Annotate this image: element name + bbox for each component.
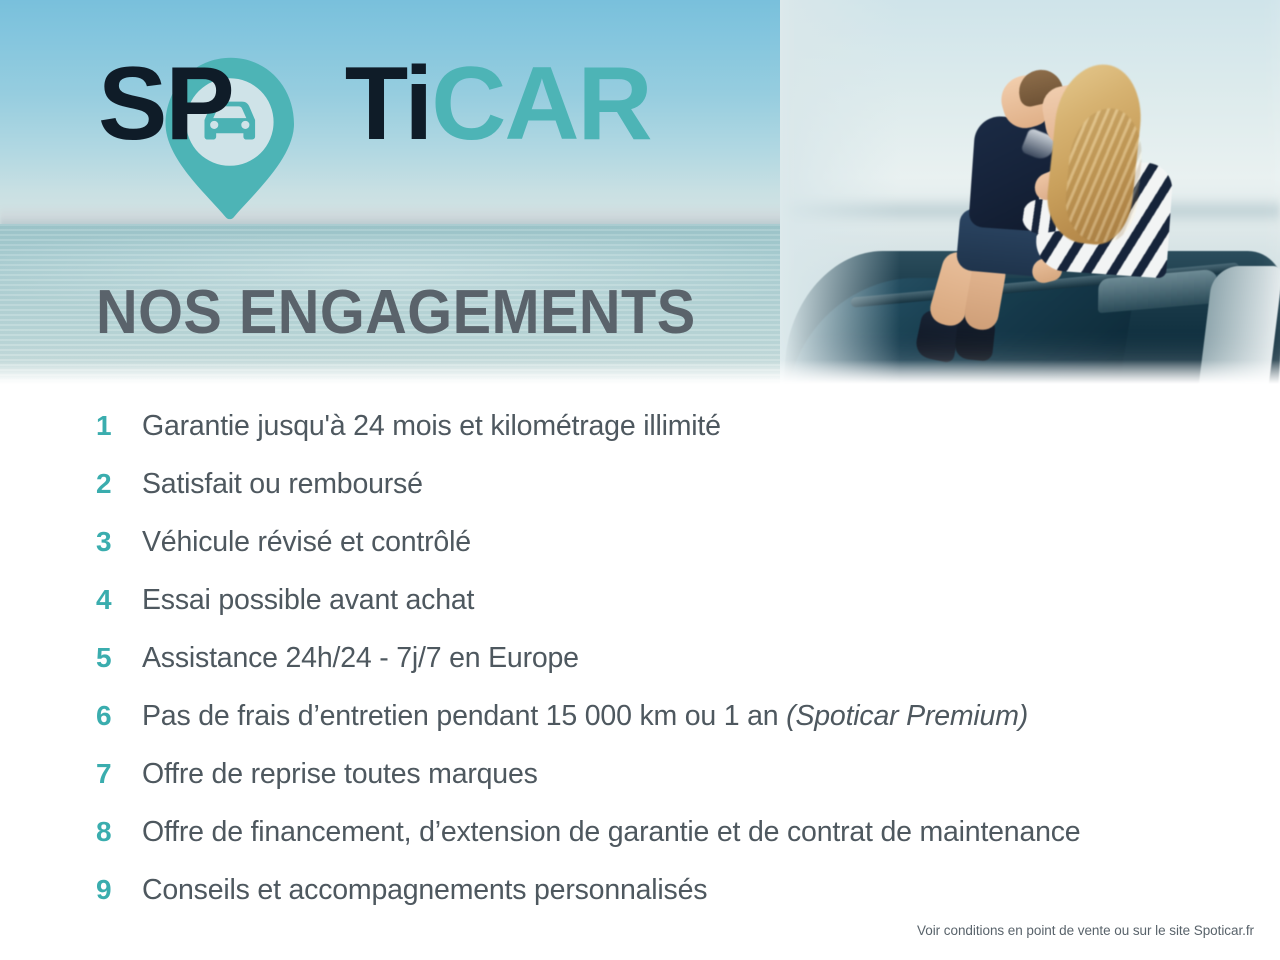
hero-bottom-fade	[0, 360, 1280, 386]
hero-photo	[780, 0, 1280, 386]
list-item-text: Offre de reprise toutes marques	[142, 760, 538, 789]
list-item-number: 8	[96, 818, 142, 846]
commitments-list: 1 Garantie jusqu'à 24 mois et kilométrag…	[96, 412, 1246, 934]
list-item-label: Pas de frais d’entretien pendant 15 000 …	[142, 700, 786, 732]
list-item: 6 Pas de frais d’entretien pendant 15 00…	[96, 702, 1246, 760]
list-item-number: 6	[96, 702, 142, 730]
list-item: 8 Offre de financement, d’extension de g…	[96, 818, 1246, 876]
list-item-text: Véhicule révisé et contrôlé	[142, 528, 471, 557]
list-item-label: Conseils et accompagnements personnalisé…	[142, 874, 707, 906]
spoticar-commitments-poster: SPTiCAR NOS ENGAGEMENTS 1 Garantie jusqu…	[0, 0, 1280, 960]
list-item: 5 Assistance 24h/24 - 7j/7 en Europe	[96, 644, 1246, 702]
list-item-text: Garantie jusqu'à 24 mois et kilométrage …	[142, 412, 721, 441]
list-item-note: (Spoticar Premium)	[786, 700, 1028, 732]
list-item-label: Garantie jusqu'à 24 mois et kilométrage …	[142, 410, 721, 442]
logo-text-sp: SP	[98, 46, 233, 162]
legal-footnote: Voir conditions en point de vente ou sur…	[917, 923, 1254, 938]
list-item-text: Pas de frais d’entretien pendant 15 000 …	[142, 702, 1028, 731]
list-item-text: Offre de financement, d’extension de gar…	[142, 818, 1080, 847]
list-item-number: 7	[96, 760, 142, 788]
logo-wordmark: SPTiCAR	[98, 52, 651, 156]
list-item-label: Assistance 24h/24 - 7j/7 en Europe	[142, 642, 579, 674]
list-item-text: Assistance 24h/24 - 7j/7 en Europe	[142, 644, 579, 673]
list-item-text: Satisfait ou remboursé	[142, 470, 423, 499]
list-item-label: Essai possible avant achat	[142, 584, 474, 616]
list-item-label: Satisfait ou remboursé	[142, 468, 423, 500]
list-item-number: 5	[96, 644, 142, 672]
list-item-label: Véhicule révisé et contrôlé	[142, 526, 471, 558]
list-item: 4 Essai possible avant achat	[96, 586, 1246, 644]
page-title: NOS ENGAGEMENTS	[96, 282, 696, 344]
list-item: 1 Garantie jusqu'à 24 mois et kilométrag…	[96, 412, 1246, 470]
logo-text-car: CAR	[431, 46, 650, 162]
list-item-number: 1	[96, 412, 142, 440]
list-item-number: 9	[96, 876, 142, 904]
list-item-text: Conseils et accompagnements personnalisé…	[142, 876, 707, 905]
list-item-number: 2	[96, 470, 142, 498]
list-item: 7 Offre de reprise toutes marques	[96, 760, 1246, 818]
list-item-number: 4	[96, 586, 142, 614]
list-item-text: Essai possible avant achat	[142, 586, 474, 615]
list-item: 3 Véhicule révisé et contrôlé	[96, 528, 1246, 586]
logo-text-ti: Ti	[345, 46, 432, 162]
list-item: 2 Satisfait ou remboursé	[96, 470, 1246, 528]
list-item-label: Offre de financement, d’extension de gar…	[142, 816, 1080, 848]
hero-banner: SPTiCAR NOS ENGAGEMENTS	[0, 0, 1280, 386]
list-item-label: Offre de reprise toutes marques	[142, 758, 538, 790]
list-item-number: 3	[96, 528, 142, 556]
